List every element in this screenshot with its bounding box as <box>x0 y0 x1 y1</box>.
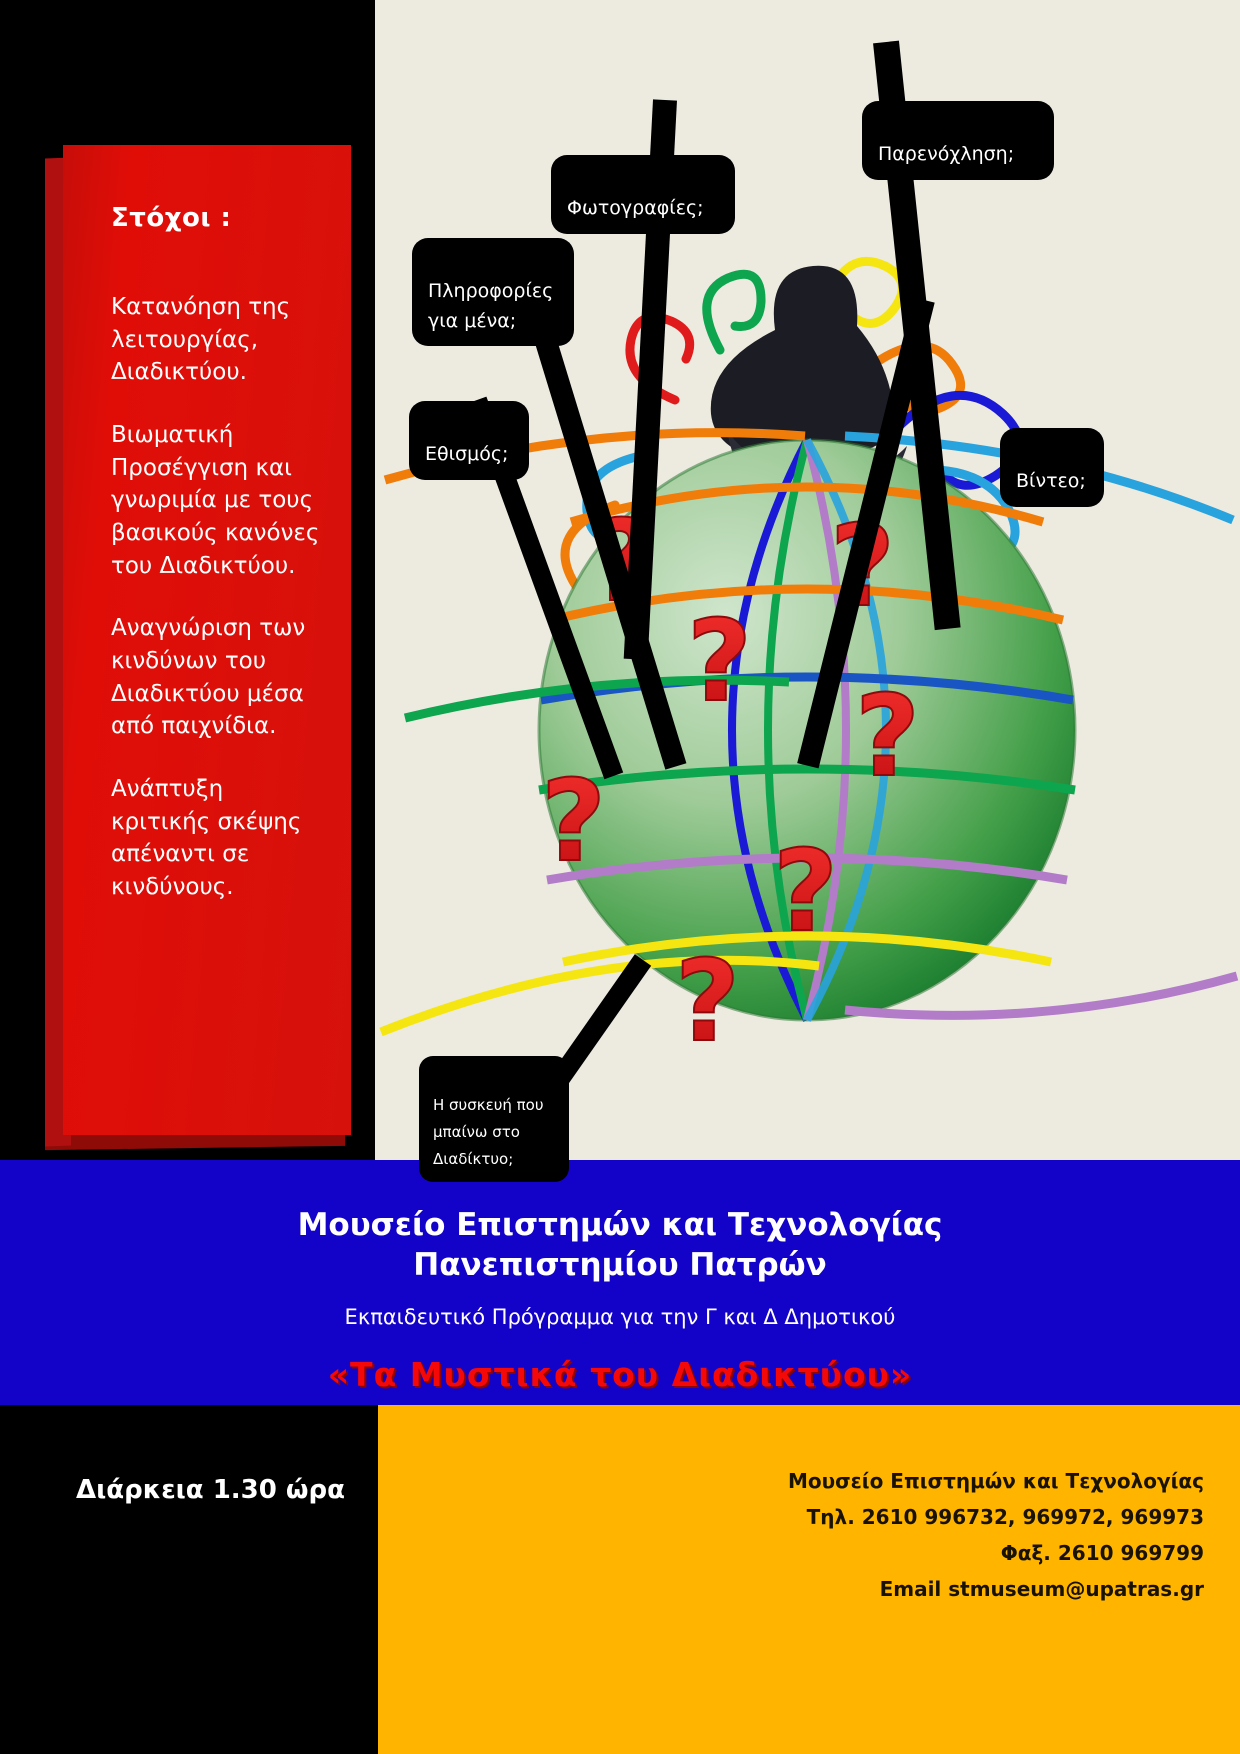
bubble-device[interactable]: Η συσκευή που μπαίνω στο Διαδίκτυο; <box>419 1056 569 1182</box>
museum-name-line2: Πανεπιστημίου Πατρών <box>413 1247 826 1283</box>
bubble-harassment-label: Παρενόχληση; <box>878 143 1014 165</box>
goals-title: Στόχοι : <box>111 203 325 233</box>
duration-label: Διάρκεια 1.30 ώρα <box>76 1475 345 1505</box>
bubble-photos[interactable]: Φωτογραφίες; <box>551 155 735 234</box>
bubble-video[interactable]: Βίντεο; <box>1000 428 1104 507</box>
globe-illustration: ? ? ? ? ? ? ? <box>375 0 1240 1160</box>
museum-name-line1: Μουσείο Επιστημών και Τεχνολογίας <box>298 1207 943 1243</box>
svg-text:?: ? <box>773 827 838 957</box>
svg-text:?: ? <box>541 757 606 887</box>
top-section: ? ? ? ? ? ? ? Παρενόχληση; <box>0 0 1240 1160</box>
program-title: «Τα Μυστικά του Διαδικτύου» <box>0 1329 1240 1394</box>
museum-band: Μουσείο Επιστημών και Τεχνολογίας Πανεπι… <box>0 1160 1240 1405</box>
svg-text:?: ? <box>675 937 740 1067</box>
program-subtitle: Εκπαιδευτικό Πρόγραμμα για την Γ και Δ Δ… <box>0 1285 1240 1329</box>
bubble-addiction-label: Εθισμός; <box>425 443 508 465</box>
goal-item-4: Ανάπτυξη κριτικής σκέψης απέναντι σε κιν… <box>111 773 325 904</box>
bubble-video-label: Βίντεο; <box>1016 470 1086 492</box>
museum-name: Μουσείο Επιστημών και Τεχνολογίας Πανεπι… <box>0 1160 1240 1285</box>
bubble-harassment[interactable]: Παρενόχληση; <box>862 101 1054 180</box>
bubble-device-label: Η συσκευή που μπαίνω στο Διαδίκτυο; <box>433 1096 544 1168</box>
bubble-info-about-me[interactable]: Πληροφορίες για μένα; <box>412 238 574 346</box>
illustration-canvas: ? ? ? ? ? ? ? <box>375 0 1240 1160</box>
contact-email[interactable]: Email stmuseum@upatras.gr <box>378 1575 1204 1604</box>
goals-card: Στόχοι : Κατανόηση της λειτουργίας, Διαδ… <box>63 145 351 1135</box>
goal-item-1: Κατανόηση της λειτουργίας, Διαδικτύου. <box>111 291 325 389</box>
svg-text:?: ? <box>687 597 752 727</box>
contact-panel: Μουσείο Επιστημών και Τεχνολογίας Τηλ. 2… <box>378 1405 1240 1754</box>
contact-organisation: Μουσείο Επιστημών και Τεχνολογίας <box>378 1467 1204 1496</box>
poster-root: ? ? ? ? ? ? ? Παρενόχληση; <box>0 0 1240 1754</box>
duration-panel <box>0 1405 378 1754</box>
bubble-info-about-me-label: Πληροφορίες για μένα; <box>428 280 553 331</box>
bubble-photos-label: Φωτογραφίες; <box>567 197 704 219</box>
bubble-addiction[interactable]: Εθισμός; <box>409 401 529 480</box>
goal-item-3: Αναγνώριση των κινδύνων του Διαδικτύου μ… <box>111 612 325 743</box>
svg-text:?: ? <box>855 672 920 802</box>
goal-item-2: Βιωματική Προσέγγιση και γνωριμία με του… <box>111 419 325 582</box>
contact-fax: Φαξ. 2610 969799 <box>378 1539 1204 1568</box>
contact-phone[interactable]: Τηλ. 2610 996732, 969972, 969973 <box>378 1503 1204 1532</box>
